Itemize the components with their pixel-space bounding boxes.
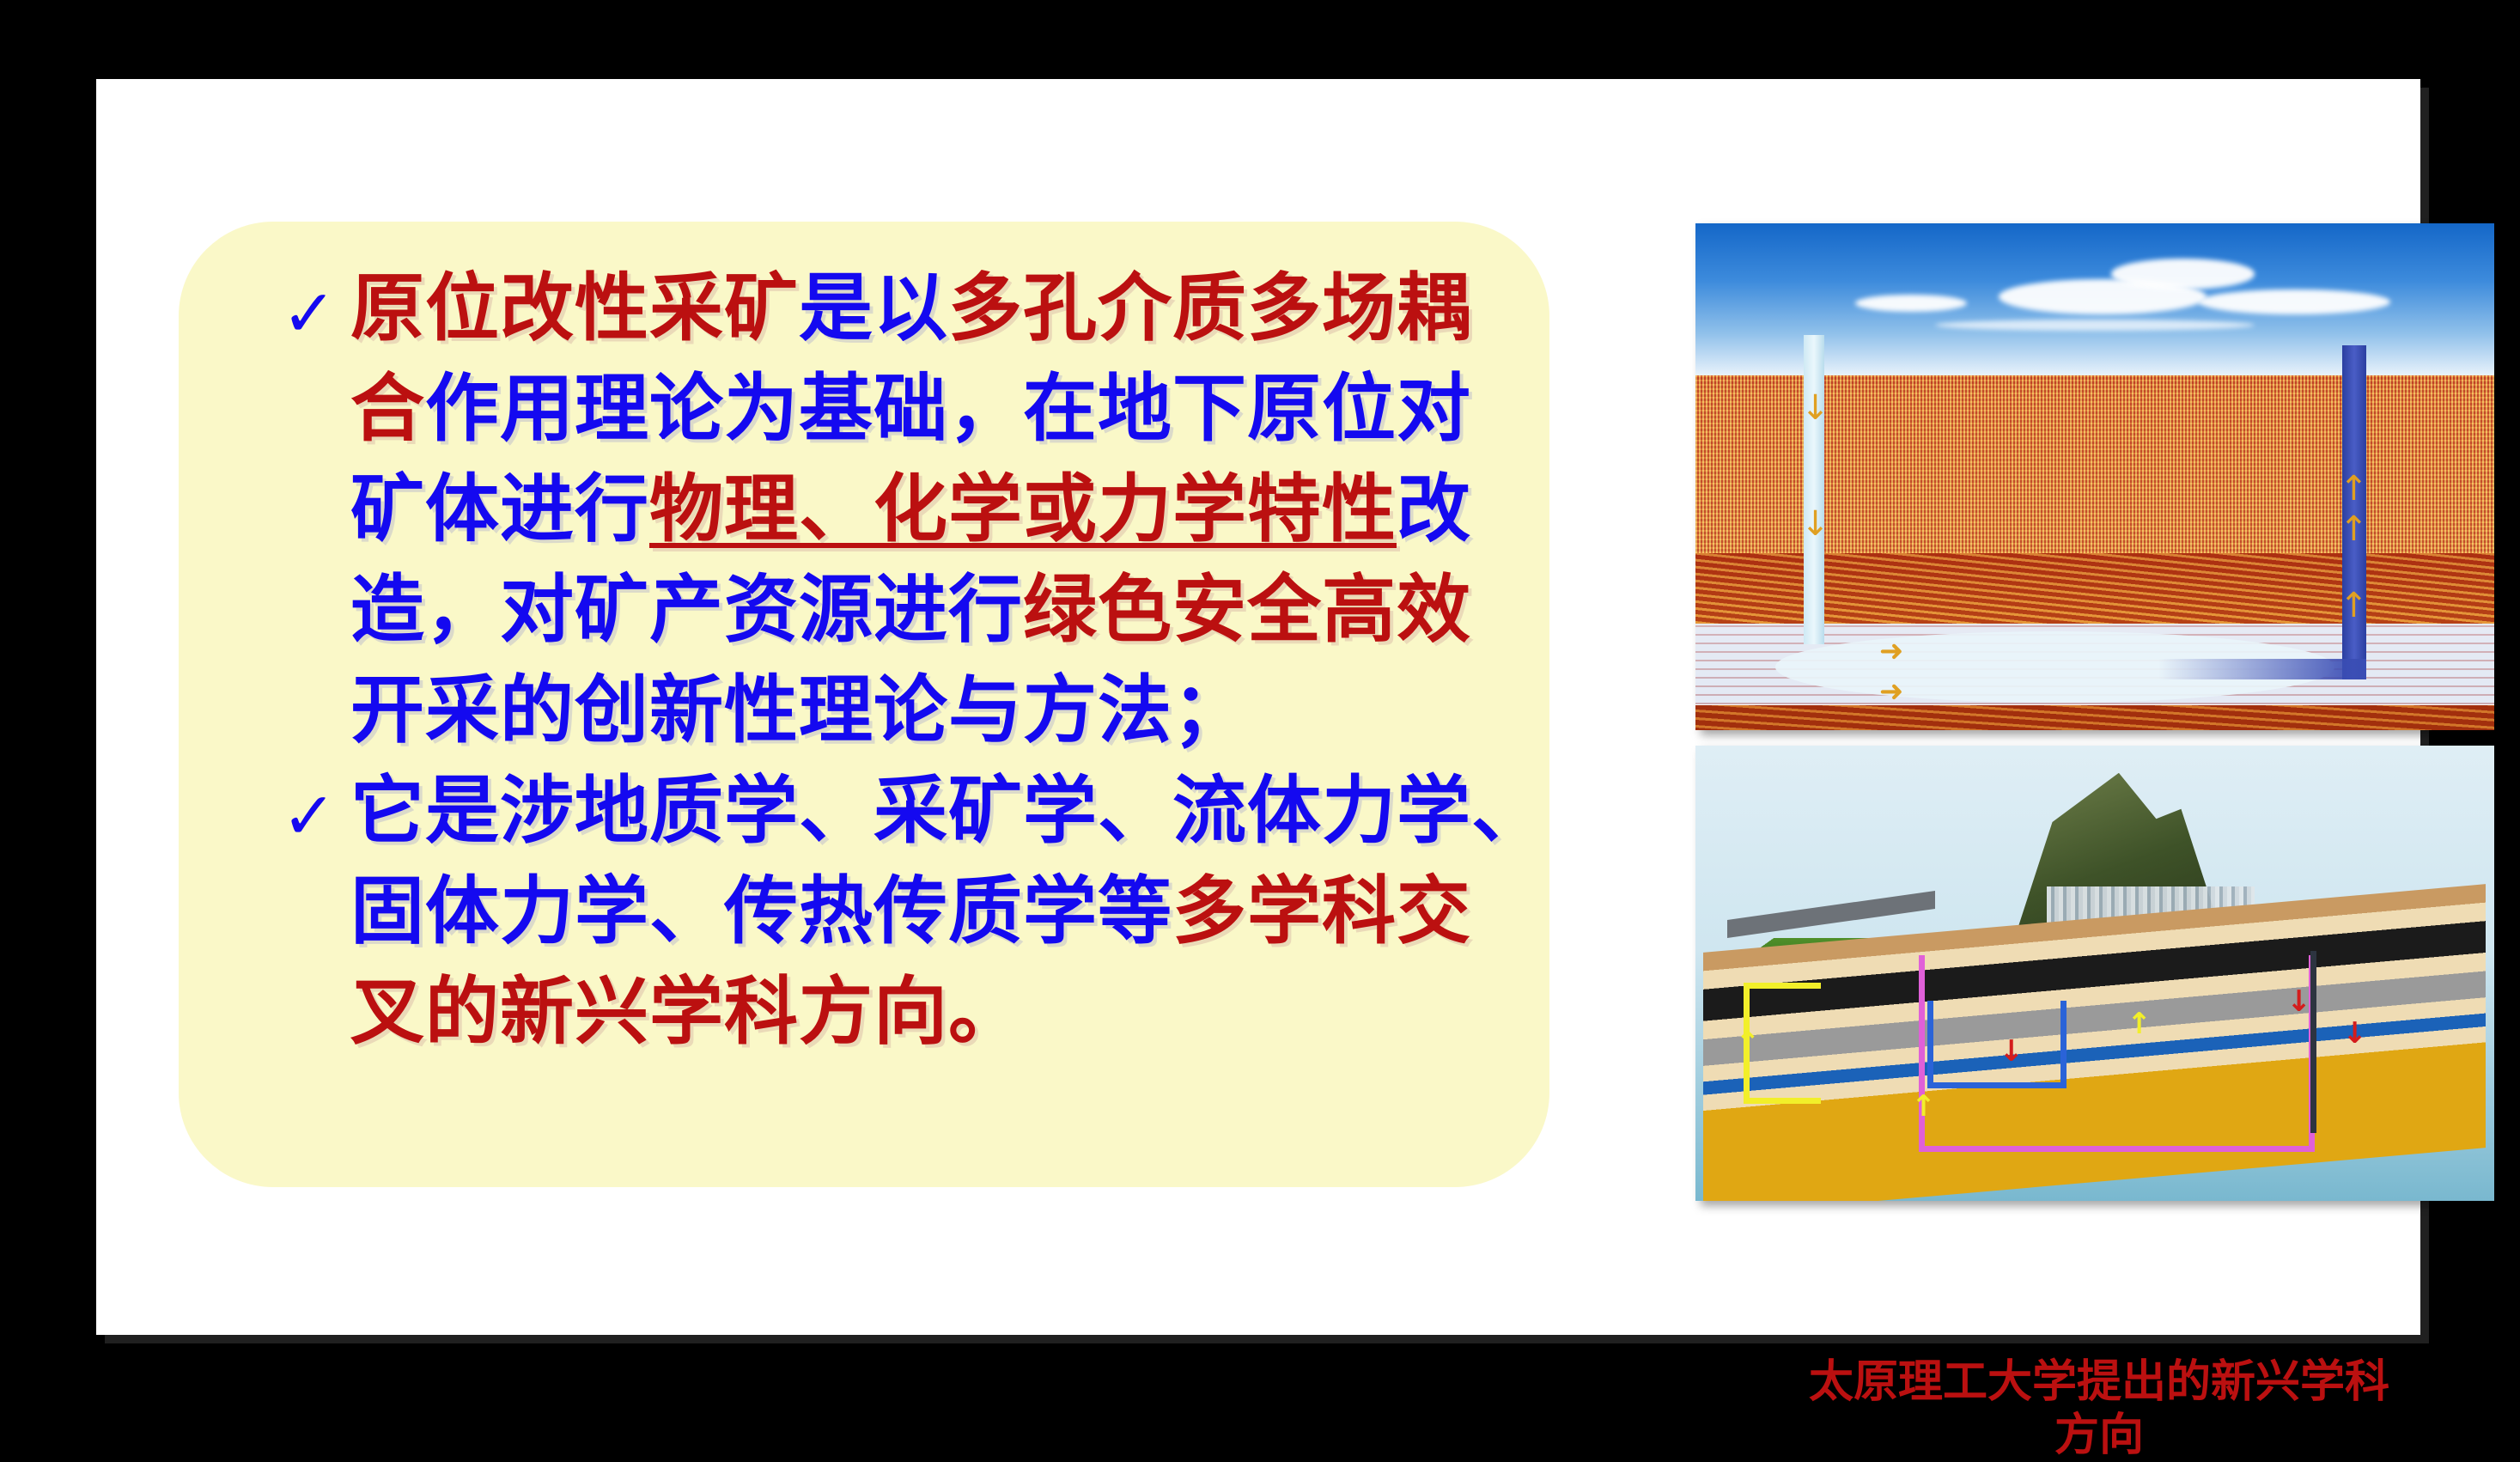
- cloud-shape: [1935, 320, 2255, 331]
- note-text-block: ✓原位改性采矿是以多孔介质多场耦合作用理论为基础，在地下原位对矿体进行物理、化学…: [179, 222, 1549, 1187]
- cloud-shape: [2199, 289, 2390, 315]
- up-arrow-icon: ↑: [2340, 588, 2369, 623]
- note-text-run: 叉的新兴学科方向。: [350, 968, 1023, 1055]
- figure-caption: 太原理工大学提出的新兴学科 方向: [1695, 1355, 2503, 1462]
- right-arrow-icon: ➜: [1879, 674, 1904, 709]
- pipeline-blue: [1927, 1001, 2067, 1088]
- pipeline-dark: [2303, 951, 2316, 1133]
- caption-line-1: 太原理工大学提出的新兴学科: [1695, 1355, 2503, 1409]
- up-arrow-icon: ↑: [2340, 472, 2369, 506]
- up-arrow-icon: ↑: [1736, 1028, 1761, 1057]
- up-arrow-icon: ↑: [2340, 512, 2369, 546]
- note-text-run: 多学科交: [1172, 868, 1471, 954]
- up-arrow-icon: ↑: [2127, 1009, 2152, 1039]
- note-line: 原位改性采矿是以多孔介质多场耦: [350, 271, 1471, 345]
- note-text-run: 固体力学、传热传质学等: [350, 868, 1172, 954]
- bedrock-layer: [1695, 705, 2494, 731]
- note-text-run: 物理、化学或力学特性: [649, 466, 1397, 552]
- figure-strata-3d-block: ↑ ↑ ↑ ↓ ↓ ↓: [1695, 746, 2494, 1201]
- note-line: 合作用理论为基础，在地下原位对: [350, 372, 1471, 446]
- note-line: 固体力学、传热传质学等多学科交: [350, 874, 1471, 948]
- slide-canvas: ✓原位改性采矿是以多孔介质多场耦合作用理论为基础，在地下原位对矿体进行物理、化学…: [96, 79, 2420, 1335]
- bullet-check-icon: ✓: [282, 777, 337, 854]
- note-text-run: 多孔介质多场耦: [948, 265, 1471, 351]
- note-text-run: 造，对矿产资源进行: [350, 566, 1023, 653]
- right-arrow-icon: ➜: [1879, 634, 1904, 668]
- figure-well-cross-section: ↓ ↓ ↑ ↑ ↑ ➜ ➜: [1695, 223, 2494, 730]
- note-line: 它是涉地质学、采矿学、流体力学、: [350, 774, 1546, 848]
- down-arrow-icon: ↓: [1801, 391, 1830, 425]
- cloud-shape: [1855, 295, 1967, 312]
- note-text-run: 是以: [799, 265, 948, 351]
- note-text-run: 矿体进行: [350, 466, 649, 552]
- up-arrow-icon: ↑: [1911, 1092, 1936, 1121]
- production-well-foot: [2158, 659, 2366, 679]
- note-text-run: 改: [1397, 466, 1471, 552]
- note-line: 叉的新兴学科方向。: [350, 975, 1023, 1049]
- note-panel: ✓原位改性采矿是以多孔介质多场耦合作用理论为基础，在地下原位对矿体进行物理、化学…: [179, 222, 1549, 1187]
- note-line: 开采的创新性理论与方法；: [350, 673, 1247, 747]
- down-arrow-icon: ↓: [2342, 1019, 2367, 1048]
- figure-column: ↓ ↓ ↑ ↑ ↑ ➜ ➜ ↑ ↑ ↑ ↓ ↓ ↓: [1695, 223, 2503, 1331]
- cloud-shape: [2111, 259, 2255, 289]
- note-text-run: 绿色安全高效: [1023, 566, 1471, 653]
- note-line: 矿体进行物理、化学或力学特性改: [350, 472, 1471, 546]
- note-text-run: 合: [350, 365, 425, 452]
- caption-line-2: 方向: [1695, 1409, 2503, 1462]
- injection-well: [1804, 335, 1824, 644]
- note-text-run: 作用理论为基础，在地下原位对: [425, 365, 1471, 452]
- bullet-check-icon: ✓: [282, 275, 337, 351]
- note-text-run: 原位改性采矿: [350, 265, 799, 351]
- down-arrow-icon: ↓: [2286, 987, 2311, 1016]
- note-text-run: 开采的创新性理论与方法；: [350, 667, 1247, 753]
- down-arrow-icon: ↓: [1801, 507, 1830, 541]
- note-text-run: 它是涉地质学、采矿学、流体力学、: [350, 767, 1546, 854]
- down-arrow-icon: ↓: [1999, 1037, 2024, 1066]
- note-line: 造，对矿产资源进行绿色安全高效: [350, 573, 1471, 647]
